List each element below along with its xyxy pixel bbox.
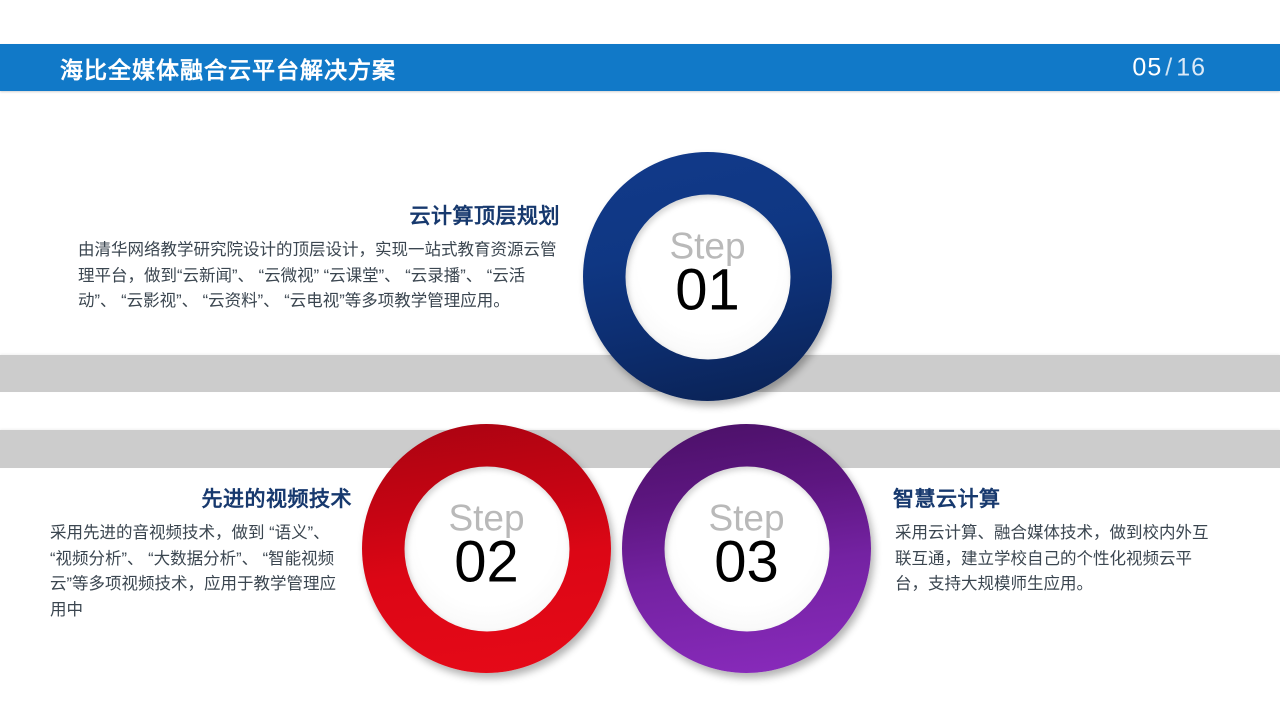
page-indicator: 05/16 <box>1132 53 1206 82</box>
step-2-body: 采用先进的音视频技术，做到 “语义”、 “视频分析”、 “大数据分析”、 “智能… <box>40 521 352 623</box>
step-3-body: 采用云计算、融合媒体技术，做到校内外互联互通，建立学校自己的个性化视频云平台，支… <box>893 521 1223 598</box>
step-1-heading: 云计算顶层规划 <box>60 200 560 230</box>
step-3-heading: 智慧云计算 <box>893 483 1223 513</box>
step-1-ring[interactable]: Step 01 <box>583 152 832 401</box>
step-3-text-block: 智慧云计算 采用云计算、融合媒体技术，做到校内外互联互通，建立学校自己的个性化视… <box>893 483 1223 598</box>
page-total: 16 <box>1176 53 1206 81</box>
step-2-heading: 先进的视频技术 <box>40 483 352 513</box>
page-separator: / <box>1165 53 1173 81</box>
step-2-ring[interactable]: Step 02 <box>362 424 611 673</box>
step-3-ring[interactable]: Step 03 <box>622 424 871 673</box>
step-2-ring-center: Step 02 <box>404 466 569 631</box>
slide-canvas: 海比全媒体融合云平台解决方案 05/16 云计算顶层规划 由清华网络教学研究院设… <box>0 0 1280 720</box>
step-1-body: 由清华网络教学研究院设计的顶层设计，实现一站式教育资源云管理平台，做到“云新闻”… <box>60 238 560 315</box>
step-3-number: 03 <box>714 534 779 592</box>
step-2-number: 02 <box>454 534 519 592</box>
step-1-number: 01 <box>675 262 740 320</box>
slide-title: 海比全媒体融合云平台解决方案 <box>60 51 396 85</box>
step-1-ring-center: Step 01 <box>625 194 790 359</box>
step-1-text-block: 云计算顶层规划 由清华网络教学研究院设计的顶层设计，实现一站式教育资源云管理平台… <box>60 200 560 315</box>
slide-header-bar: 海比全媒体融合云平台解决方案 05/16 <box>0 44 1280 91</box>
page-current: 05 <box>1132 53 1162 81</box>
step-2-text-block: 先进的视频技术 采用先进的音视频技术，做到 “语义”、 “视频分析”、 “大数据… <box>40 483 352 623</box>
step-3-ring-center: Step 03 <box>664 466 829 631</box>
